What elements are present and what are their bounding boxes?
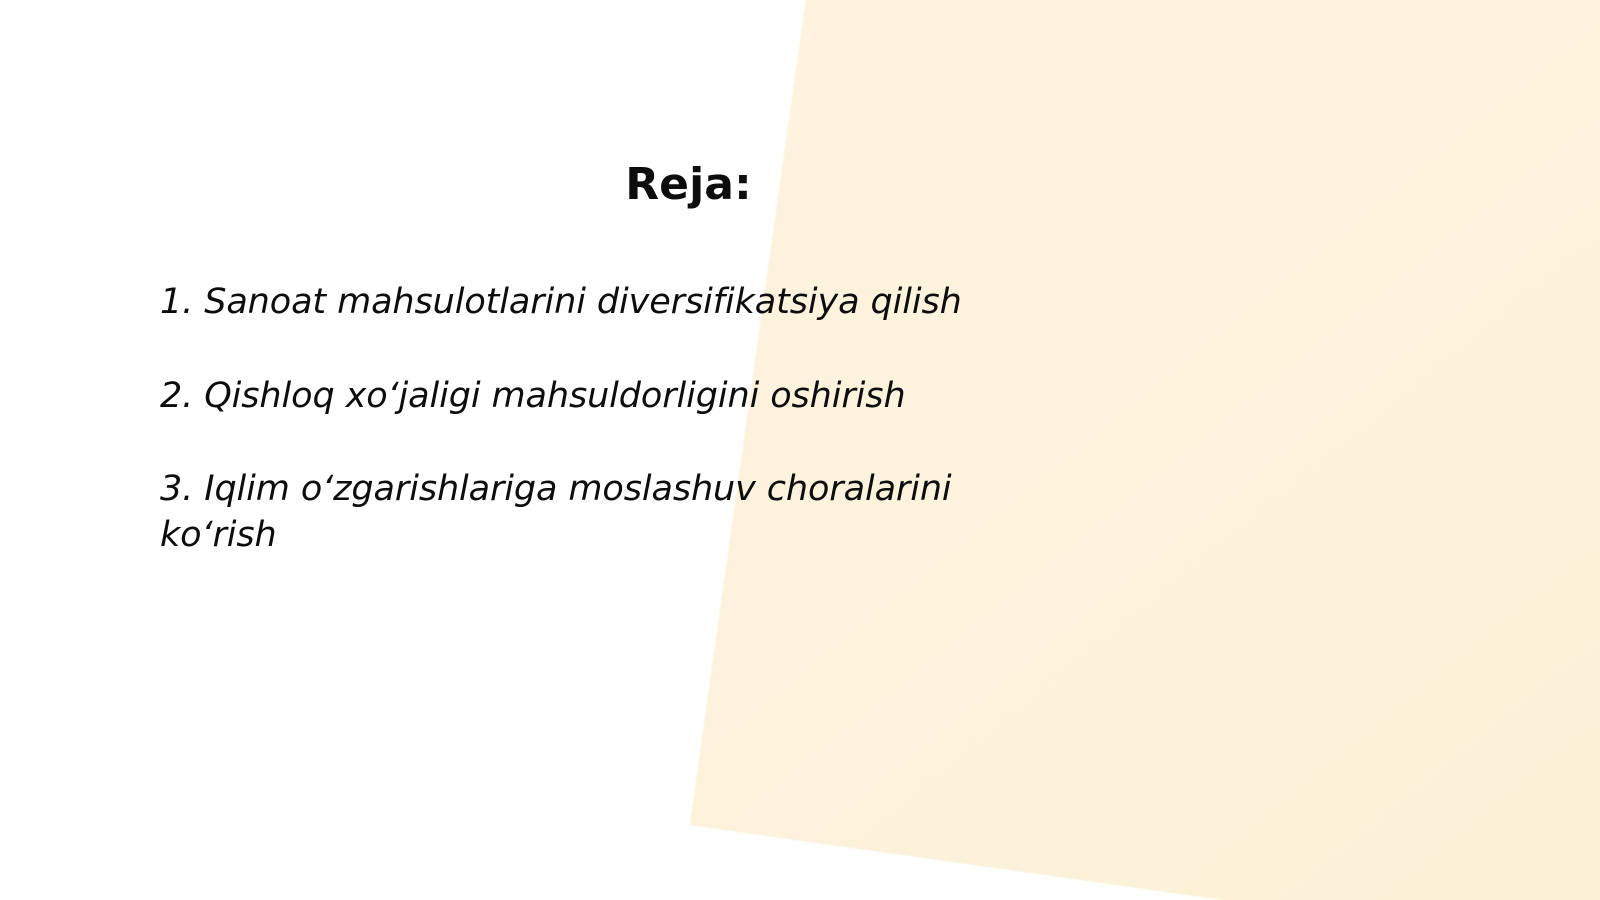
list-item: 1. Sanoat mahsulotlarini diversifikatsiy… bbox=[160, 280, 1060, 326]
list-item: 2. Qishloq xoʻjaligi mahsuldorligini osh… bbox=[160, 374, 1060, 420]
presentation-slide: Reja: 1. Sanoat mahsulotlarini diversifi… bbox=[0, 0, 1600, 900]
page-title: Reja: bbox=[0, 160, 1377, 211]
list-item: 3. Iqlim oʻzgarishlariga moslashuv chora… bbox=[160, 467, 1060, 558]
plan-list: 1. Sanoat mahsulotlarini diversifikatsiy… bbox=[160, 280, 1060, 558]
slide-content: Reja: 1. Sanoat mahsulotlarini diversifi… bbox=[0, 0, 1600, 900]
